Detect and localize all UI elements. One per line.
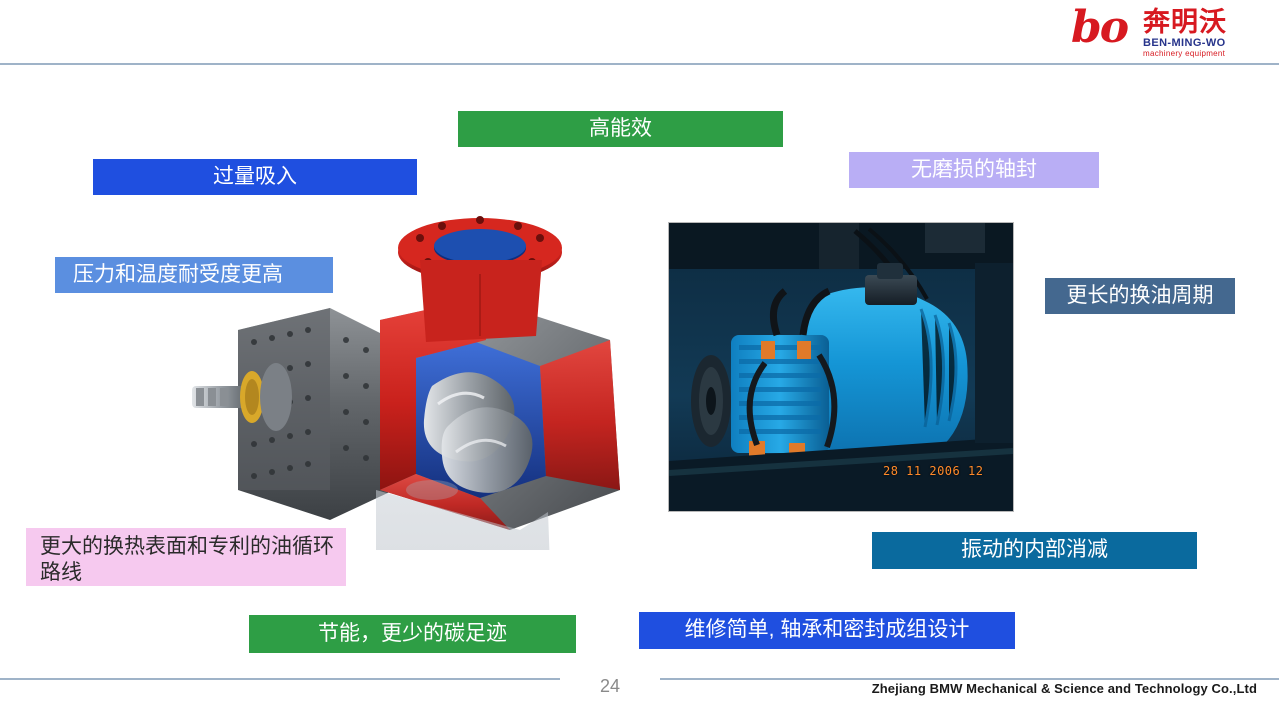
header-divider — [0, 63, 1279, 65]
page-number: 24 — [560, 676, 660, 697]
slide: bo 奔明沃 BEN-MING-WO machinery equipment — [0, 0, 1279, 720]
logo-tagline: machinery equipment — [1143, 49, 1225, 58]
logo-english-name: BEN-MING-WO — [1143, 37, 1226, 49]
callout-heat-exchange-surface: 更大的换热表面和专利的油循环路线 — [26, 528, 346, 586]
compressor-photo: 28 11 2006 12 — [668, 222, 1014, 512]
footer-company-name: Zhejiang BMW Mechanical & Science and Te… — [872, 681, 1257, 696]
logo-chinese-name: 奔明沃 — [1143, 7, 1227, 37]
callout-high-efficiency: 高能效 — [458, 111, 783, 147]
callout-easy-maintenance: 维修简单, 轴承和密封成组设计 — [639, 612, 1015, 649]
callout-oil-change-cycle: 更长的换油周期 — [1045, 278, 1235, 314]
callout-vibration-reduction: 振动的内部消减 — [872, 532, 1197, 569]
callout-no-wear-seal: 无磨损的轴封 — [849, 152, 1099, 188]
callout-energy-saving: 节能，更少的碳足迹 — [249, 615, 576, 653]
company-logo: bo 奔明沃 BEN-MING-WO machinery equipment — [1071, 4, 1261, 60]
callout-over-suction: 过量吸入 — [93, 159, 417, 195]
photo-timestamp: 28 11 2006 12 — [883, 464, 983, 478]
footer-divider-left — [0, 678, 560, 680]
footer-divider-right — [660, 678, 1279, 680]
cad-render-image — [180, 190, 650, 550]
logo-mark: bo — [1071, 6, 1127, 50]
callout-pressure-temperature: 压力和温度耐受度更高 — [55, 257, 333, 293]
